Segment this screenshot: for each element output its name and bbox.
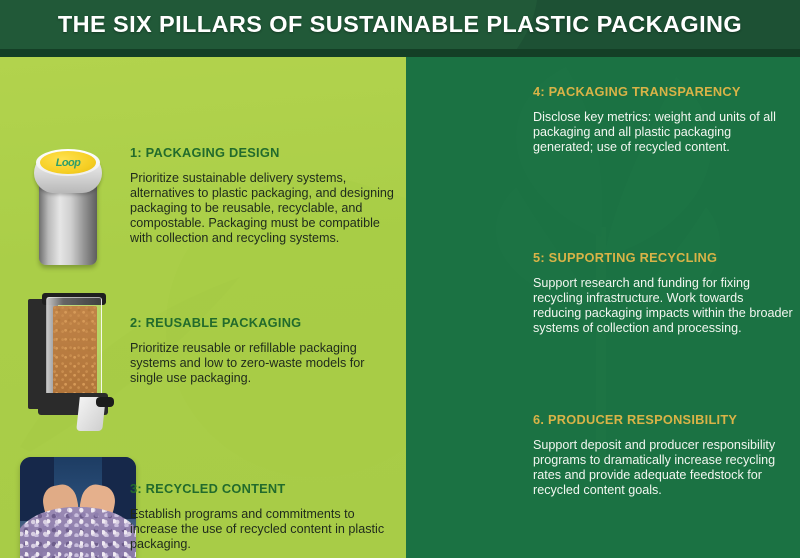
pillar-3-block: 3: RECYCLED CONTENT Establish programs a…: [130, 481, 398, 552]
pillar-1-body: Prioritize sustainable delivery systems,…: [130, 171, 398, 246]
dispenser-grain-fill: [53, 306, 97, 396]
hands-holding-recycled-plastic-flakes-photo: [20, 457, 136, 558]
dispenser-tube: [46, 297, 102, 397]
bulk-gravity-dispenser-photo: [22, 293, 132, 433]
right-panel: WEIGHT VOLUME UNITS RECYCLED CONTENT USE…: [406, 57, 800, 558]
pillar-5-body: Support research and funding for fixing …: [533, 276, 795, 336]
infographic-poster: THE SIX PILLARS OF SUSTAINABLE PLASTIC P…: [0, 0, 800, 558]
pillar-2-block: 2: REUSABLE PACKAGING Prioritize reusabl…: [130, 315, 398, 386]
pillar-2-body: Prioritize reusable or refillable packag…: [130, 341, 398, 386]
pillar-4-heading: 4: PACKAGING TRANSPARENCY: [533, 84, 791, 99]
poster-header: THE SIX PILLARS OF SUSTAINABLE PLASTIC P…: [0, 0, 800, 57]
pillar-1-heading: 1: PACKAGING DESIGN: [130, 145, 398, 160]
loop-reusable-container-photo: Loop: [25, 141, 111, 269]
pillar-4-body: Disclose key metrics: weight and units o…: [533, 110, 791, 155]
pillar-6-heading: 6. PRODUCER RESPONSIBILITY: [533, 412, 795, 427]
pillar-6-body: Support deposit and producer responsibil…: [533, 438, 795, 498]
pillar-5-block: 5: SUPPORTING RECYCLING Support research…: [533, 250, 795, 336]
loop-brand-label: Loop: [56, 157, 80, 169]
loop-brand-badge: Loop: [40, 151, 96, 174]
page-title: THE SIX PILLARS OF SUSTAINABLE PLASTIC P…: [0, 0, 800, 49]
pillar-3-heading: 3: RECYCLED CONTENT: [130, 481, 398, 496]
dispenser-knob: [96, 397, 114, 407]
left-panel: Loop 1: PACKAGING DESIGN Prioritize sust…: [0, 57, 406, 558]
pillar-4-block: 4: PACKAGING TRANSPARENCY Disclose key m…: [533, 84, 791, 155]
pillar-5-heading: 5: SUPPORTING RECYCLING: [533, 250, 795, 265]
pillar-3-body: Establish programs and commitments to in…: [130, 507, 398, 552]
pillar-1-block: 1: PACKAGING DESIGN Prioritize sustainab…: [130, 145, 398, 246]
flakes-pile: [20, 507, 136, 558]
pillar-2-heading: 2: REUSABLE PACKAGING: [130, 315, 398, 330]
pillar-6-block: 6. PRODUCER RESPONSIBILITY Support depos…: [533, 412, 795, 498]
